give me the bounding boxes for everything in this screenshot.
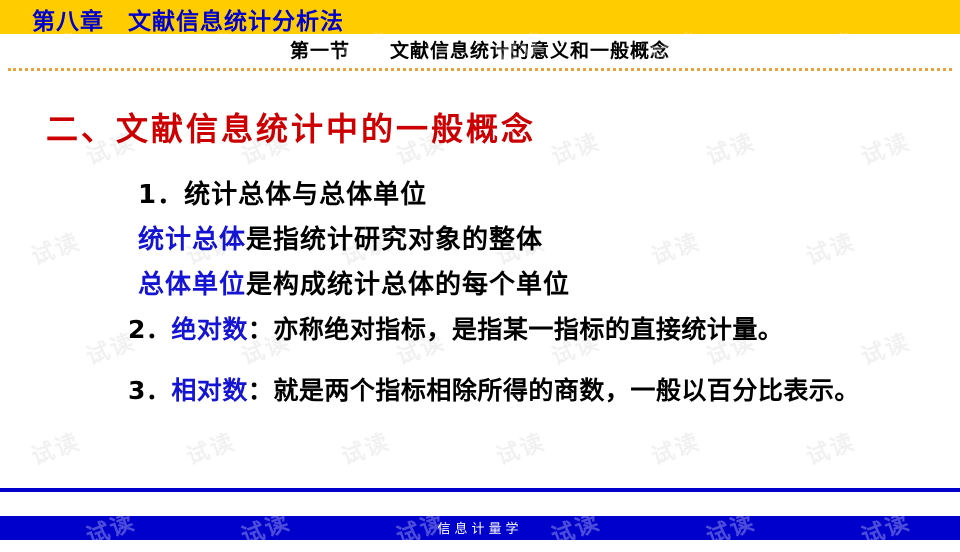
list-item-2-number: 2． bbox=[128, 315, 171, 344]
term-tongji-zongti: 统计总体 bbox=[138, 225, 246, 255]
header-divider bbox=[8, 68, 952, 71]
list-item-1-sub-1-text: 是指统计研究对象的整体 bbox=[246, 225, 543, 255]
watermark-text: 试读 bbox=[336, 422, 395, 471]
term-juedui-shu: 绝对数 bbox=[171, 315, 248, 344]
list-item-3: 3．相对数：就是两个指标相除所得的商数，一般以百分比表示。 bbox=[128, 375, 928, 406]
term-xiangdui-shu: 相对数 bbox=[171, 376, 248, 405]
list-item-1-sub-1: 统计总体是指统计研究对象的整体 bbox=[138, 219, 543, 256]
slide: 第八章 文献信息统计分析法 第一节 文献信息统计的意义和一般概念 二、文献信息统… bbox=[0, 0, 960, 540]
watermark-text: 试读 bbox=[646, 422, 705, 471]
watermark-text: 试读 bbox=[856, 122, 915, 171]
watermark-text: 试读 bbox=[701, 122, 760, 171]
list-item-1-sub-2-text: 是构成统计总体的每个单位 bbox=[246, 270, 570, 300]
watermark-text: 试读 bbox=[646, 222, 705, 271]
list-item-3-number: 3． bbox=[128, 376, 171, 405]
watermark-text: 试读 bbox=[26, 422, 85, 471]
term-zongti-danwei: 总体单位 bbox=[138, 270, 246, 300]
section-title: 第一节 文献信息统计的意义和一般概念 bbox=[0, 36, 960, 63]
watermark-text: 试读 bbox=[546, 122, 605, 171]
list-item-1: 1．统计总体与总体单位 bbox=[138, 174, 427, 211]
list-item-2-text: ：亦称绝对指标，是指某一指标的直接统计量。 bbox=[248, 315, 784, 344]
list-item-2: 2．绝对数：亦称绝对指标，是指某一指标的直接统计量。 bbox=[128, 314, 928, 345]
page-heading: 二、文献信息统计中的一般概念 bbox=[46, 104, 536, 150]
watermark-text: 试读 bbox=[491, 422, 550, 471]
footer-divider bbox=[0, 488, 960, 492]
footer-title: 信息计量学 bbox=[0, 518, 960, 537]
watermark-text: 试读 bbox=[26, 222, 85, 271]
watermark-text: 试读 bbox=[801, 422, 860, 471]
list-item-1-sub-2: 总体单位是构成统计总体的每个单位 bbox=[138, 264, 570, 301]
watermark-text: 试读 bbox=[801, 222, 860, 271]
list-item-3-text: ：就是两个指标相除所得的商数，一般以百分比表示。 bbox=[248, 376, 860, 405]
watermark-text: 试读 bbox=[181, 422, 240, 471]
chapter-title: 第八章 文献信息统计分析法 bbox=[32, 2, 344, 36]
